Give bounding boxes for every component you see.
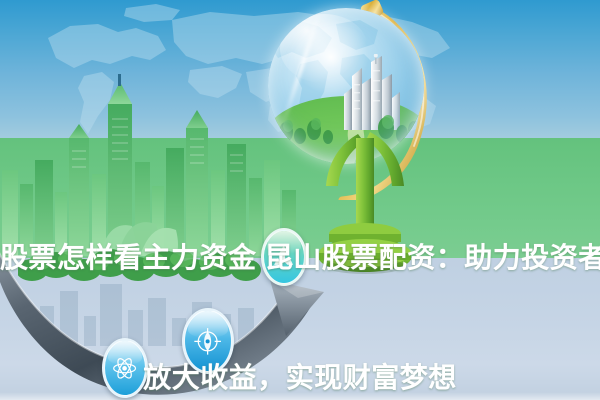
- banner-image: 股票怎样看主力资金 昆山股票配资：助力投资者 放大收益，实现财富梦想: [0, 0, 600, 400]
- headline-line-1: 股票怎样看主力资金 昆山股票配资：助力投资者: [0, 238, 600, 278]
- banner-headline: 股票怎样看主力资金 昆山股票配资：助力投资者 放大收益，实现财富梦想: [0, 158, 600, 400]
- headline-line-2: 放大收益，实现财富梦想: [0, 358, 600, 398]
